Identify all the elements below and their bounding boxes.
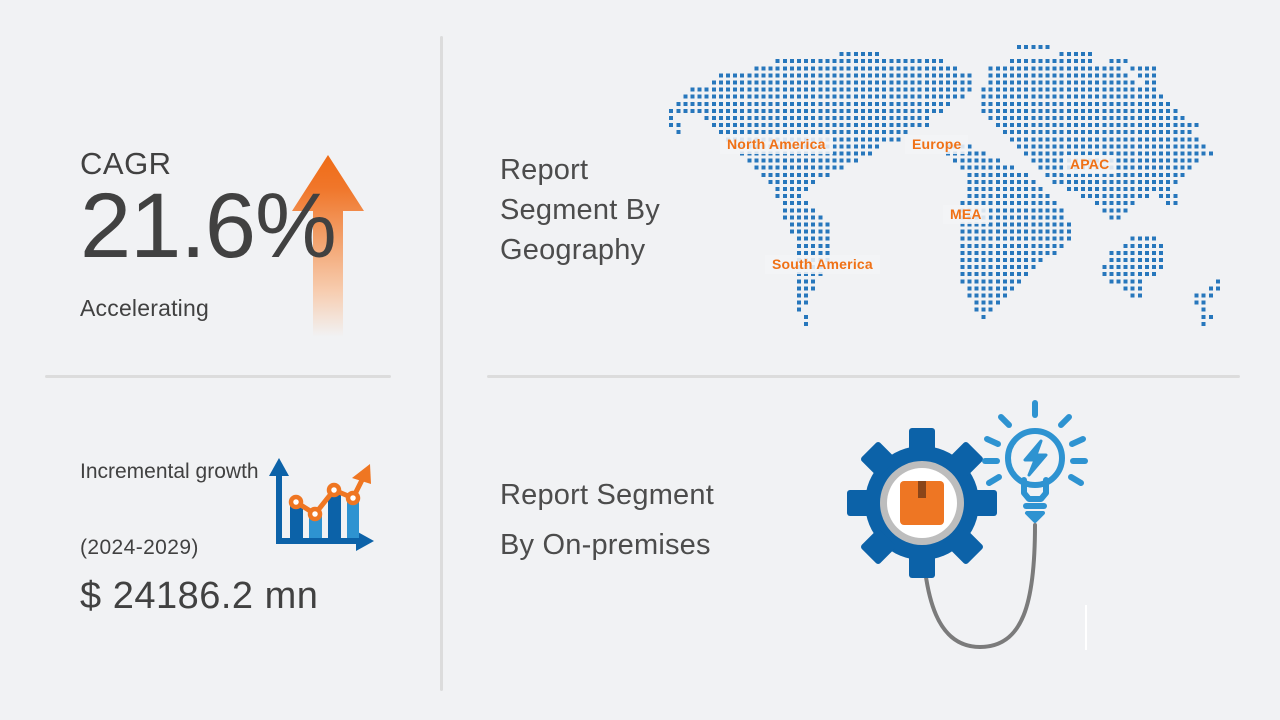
map-label-north-america: North America: [720, 135, 833, 154]
on-premises-heading: Report Segment By On-premises: [500, 470, 720, 570]
cagr-trend-label: Accelerating: [80, 297, 209, 320]
world-map-svg: [655, 45, 1225, 345]
left-horizontal-divider: [45, 375, 391, 378]
vertical-divider: [440, 36, 443, 691]
infographic-stage: CAGR 21.6% Accelerating Incremental grow…: [0, 0, 1280, 720]
incremental-growth-panel: Incremental growth (2024-2029) $ 24186.2…: [80, 452, 420, 642]
cagr-value: 21.6%: [80, 177, 336, 276]
dotted-world-map: North America South America Europe MEA A…: [655, 45, 1225, 345]
bar-line-chart-icon: [264, 454, 374, 559]
gear-package-lightbulb-icon: [845, 395, 1095, 665]
cursor-tick: [1085, 605, 1087, 650]
right-horizontal-divider: [487, 375, 1240, 378]
cagr-panel: CAGR 21.6% Accelerating: [80, 145, 410, 345]
incremental-growth-period: (2024-2029): [80, 537, 199, 558]
map-label-apac: APAC: [1063, 155, 1116, 174]
map-label-south-america: South America: [765, 255, 880, 274]
map-label-mea: MEA: [943, 205, 989, 224]
incremental-growth-title: Incremental growth: [80, 457, 270, 487]
incremental-growth-value: $ 24186.2 mn: [80, 577, 318, 615]
map-label-europe: Europe: [905, 135, 968, 154]
